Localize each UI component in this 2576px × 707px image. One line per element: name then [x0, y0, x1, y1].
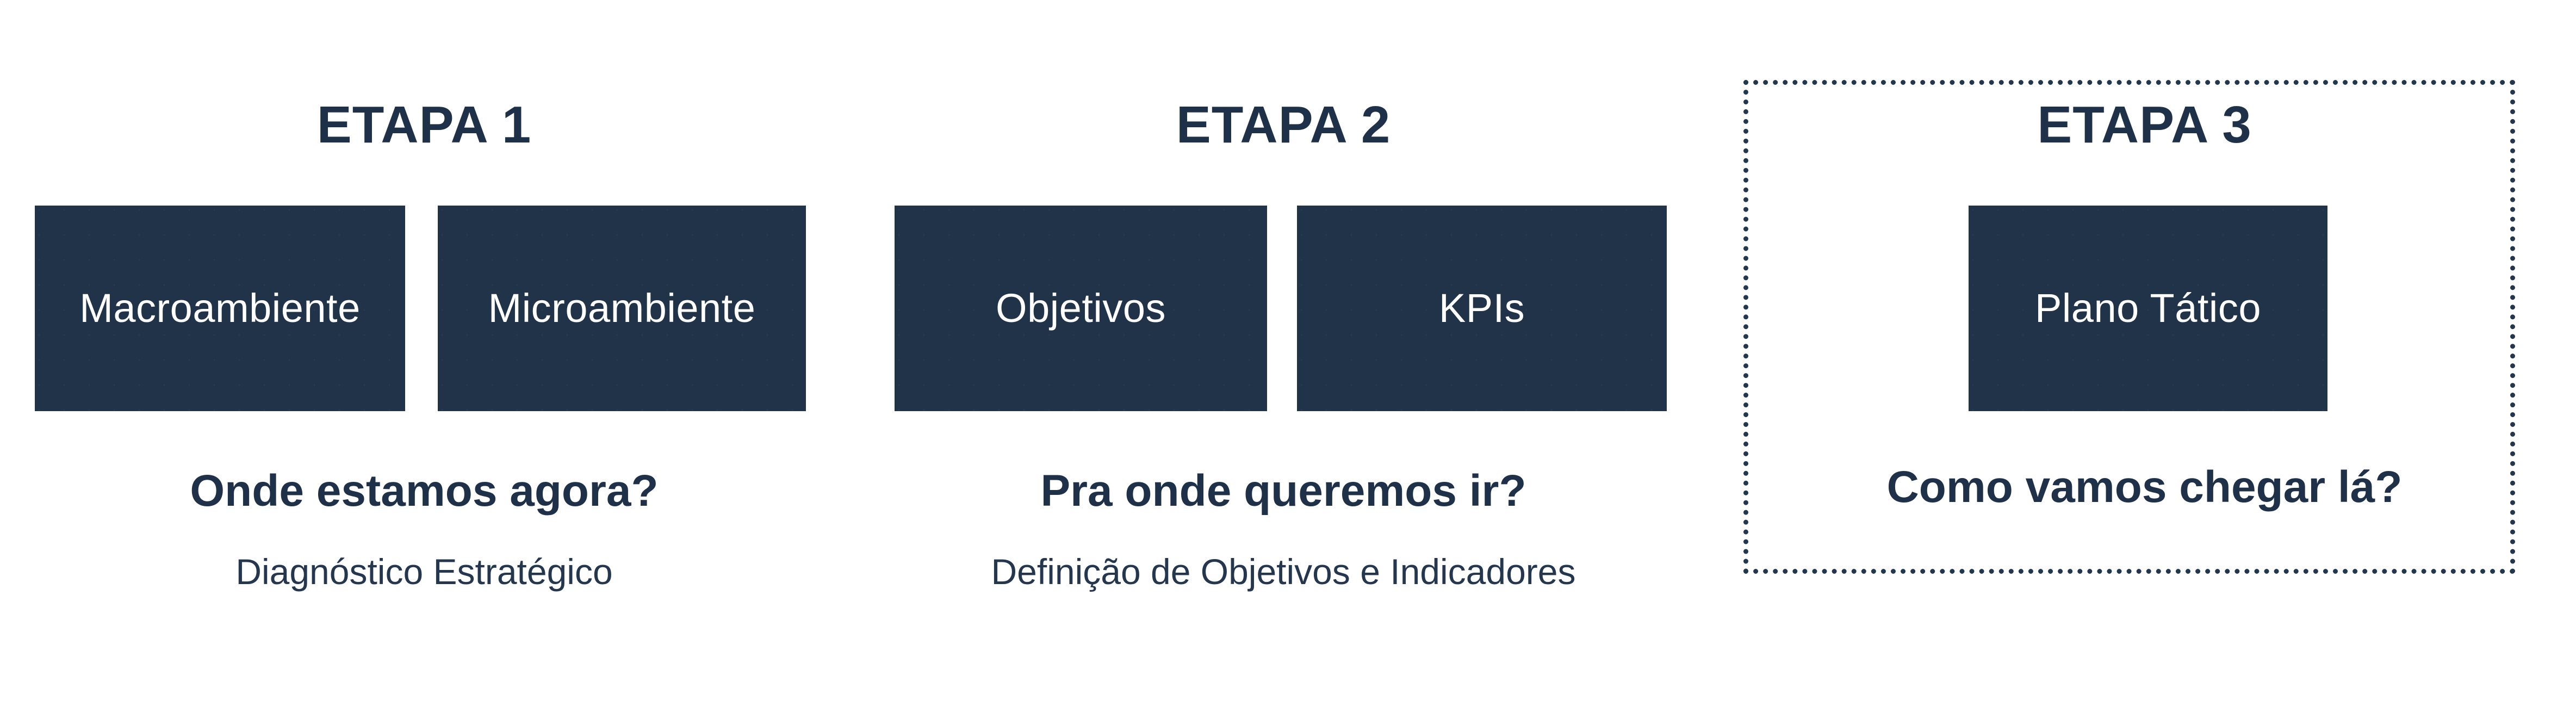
box-microambiente[interactable]: Microambiente [438, 206, 806, 411]
stage-3-question: Como vamos chegar lá? [1713, 461, 2576, 513]
strategy-stages-diagram: ETAPA 1 Macroambiente Microambiente Onde… [0, 0, 2576, 707]
box-macroambiente[interactable]: Macroambiente [35, 206, 405, 411]
stage-1-question: Onde estamos agora? [0, 465, 848, 517]
stage-column-3: ETAPA 3 Plano Tático Como vamos chegar l… [1713, 0, 2576, 707]
stage-2-box-group: Objetivos KPIs [895, 206, 1667, 411]
stage-column-1: ETAPA 1 Macroambiente Microambiente Onde… [0, 0, 848, 707]
stage-2-question: Pra onde queremos ir? [859, 465, 1708, 517]
stage-3-box-group: Plano Tático [1969, 206, 2327, 411]
stage-1-heading: ETAPA 1 [0, 97, 848, 153]
box-kpis-label: KPIs [1439, 286, 1525, 331]
stage-1-subtitle: Diagnóstico Estratégico [0, 550, 848, 593]
box-plano-tatico[interactable]: Plano Tático [1969, 206, 2327, 411]
stage-2-heading: ETAPA 2 [859, 97, 1708, 153]
box-plano-tatico-label: Plano Tático [2035, 286, 2261, 331]
stage-1-box-group: Macroambiente Microambiente [35, 206, 806, 411]
box-macroambiente-label: Macroambiente [79, 286, 361, 331]
stage-2-subtitle: Definição de Objetivos e Indicadores [859, 550, 1708, 593]
box-kpis[interactable]: KPIs [1297, 206, 1667, 411]
stage-column-2: ETAPA 2 Objetivos KPIs Pra onde queremos… [859, 0, 1708, 707]
stage-3-heading: ETAPA 3 [1713, 97, 2576, 153]
box-microambiente-label: Microambiente [488, 286, 756, 331]
box-objetivos[interactable]: Objetivos [895, 206, 1267, 411]
box-objetivos-label: Objetivos [996, 286, 1166, 331]
